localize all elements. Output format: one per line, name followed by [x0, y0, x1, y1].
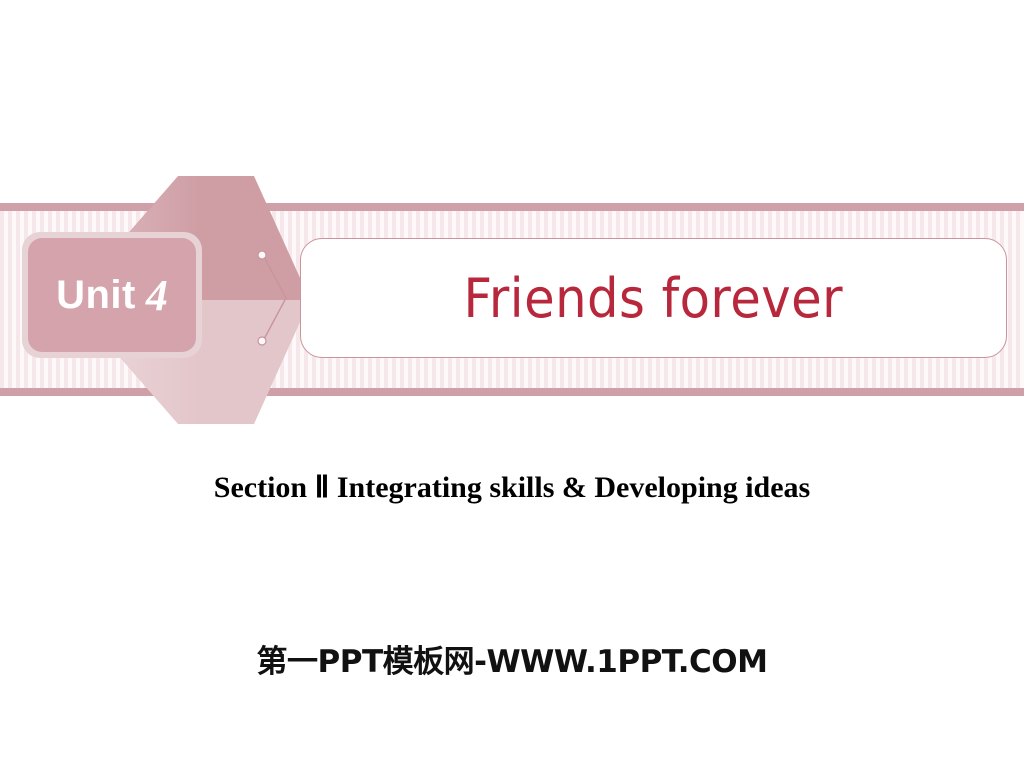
page-title: Friends forever: [464, 267, 844, 330]
slide-canvas: Unit 4 Friends forever Section Ⅱ Integra…: [0, 0, 1024, 768]
section-subtitle: Section Ⅱ Integrating skills & Developin…: [0, 470, 1024, 505]
watermark-text: 第一PPT模板网-WWW.1PPT.COM: [0, 636, 1024, 681]
unit-badge-number: 4: [146, 270, 168, 321]
unit-badge-label: Unit: [56, 273, 136, 318]
title-plate: Friends forever: [300, 238, 1007, 358]
decorative-chevron-icon: [248, 244, 300, 352]
unit-badge: Unit 4: [28, 238, 196, 352]
